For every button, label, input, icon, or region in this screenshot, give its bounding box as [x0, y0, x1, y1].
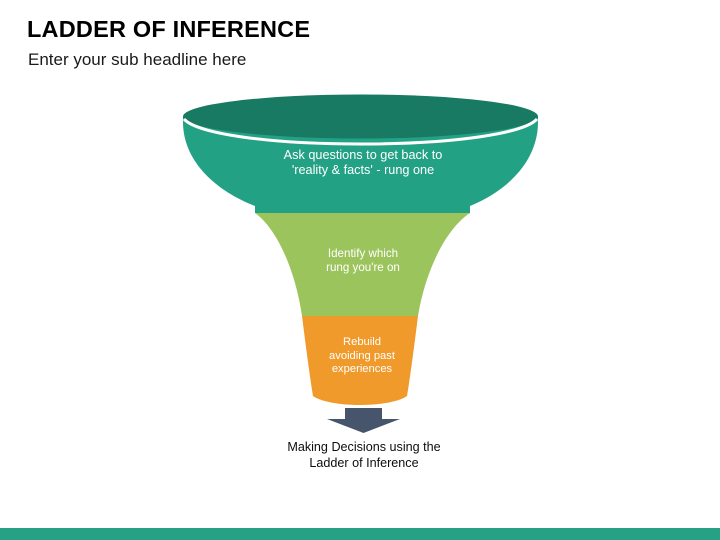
funnel-stage-3-label: Rebuild avoiding past experiences: [303, 336, 421, 377]
funnel-stage-1-label: Ask questions to get back to 'reality & …: [213, 148, 513, 179]
down-arrow-icon: [327, 408, 400, 433]
funnel-stage-2-label: Identify which rung you're on: [268, 247, 458, 275]
funnel-outcome-caption: Making Decisions using the Ladder of Inf…: [248, 439, 480, 472]
funnel-top-rim-inner: [183, 95, 538, 139]
slide-canvas: LADDER OF INFERENCE Enter your sub headl…: [0, 0, 720, 540]
footer-accent-bar: [0, 528, 720, 540]
